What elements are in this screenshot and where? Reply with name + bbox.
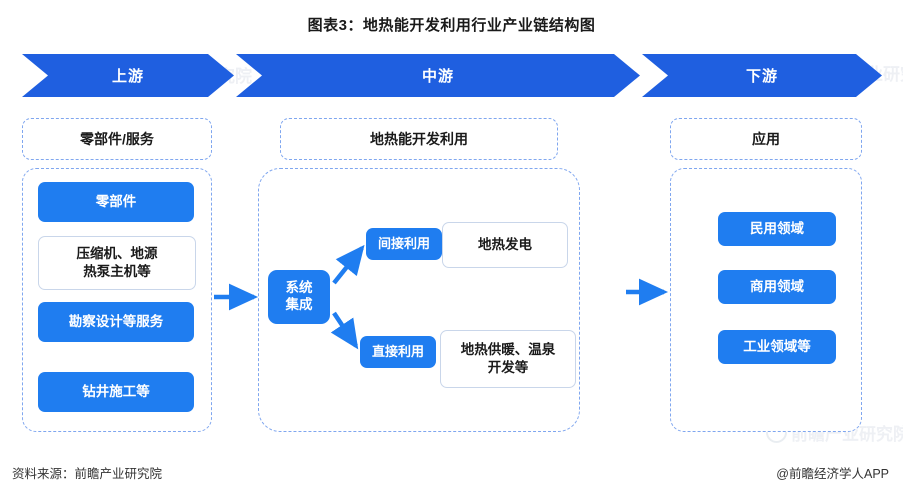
source-note: 资料来源：前瞻产业研究院	[12, 463, 162, 482]
stage-downstream: 下游	[642, 54, 882, 97]
chart-title: 图表3：地热能开发利用行业产业链结构图	[0, 14, 903, 35]
upstream-item-compressor: 压缩机、地源热泵主机等	[38, 236, 196, 290]
geothermal-heating-box: 地热供暖、温泉开发等	[440, 330, 576, 388]
upstream-item-parts: 零部件	[38, 182, 194, 222]
direct-use-box: 直接利用	[360, 336, 436, 368]
header-upstream: 零部件/服务	[22, 118, 212, 160]
downstream-item-residential: 民用领域	[718, 212, 836, 246]
diagram-root: 前瞻产业研究院 前瞻产业研究院 前瞻产业研究院 前瞻产业研究院 前瞻产业研究院 …	[0, 0, 903, 498]
indirect-use-box: 间接利用	[366, 228, 442, 260]
header-midstream: 地热能开发利用	[280, 118, 558, 160]
stage-band: 上游 中游 下游	[22, 54, 882, 97]
upstream-item-drilling: 钻井施工等	[38, 372, 194, 412]
system-integration-box: 系统集成	[268, 270, 330, 324]
brand-note: @前瞻经济学人APP	[776, 463, 889, 482]
downstream-item-commercial: 商用领域	[718, 270, 836, 304]
stage-upstream: 上游	[22, 54, 234, 97]
stage-midstream: 中游	[236, 54, 640, 97]
downstream-item-industrial: 工业领域等	[718, 330, 836, 364]
header-downstream: 应用	[670, 118, 862, 160]
upstream-item-survey-design: 勘察设计等服务	[38, 302, 194, 342]
geothermal-power-box: 地热发电	[442, 222, 568, 268]
